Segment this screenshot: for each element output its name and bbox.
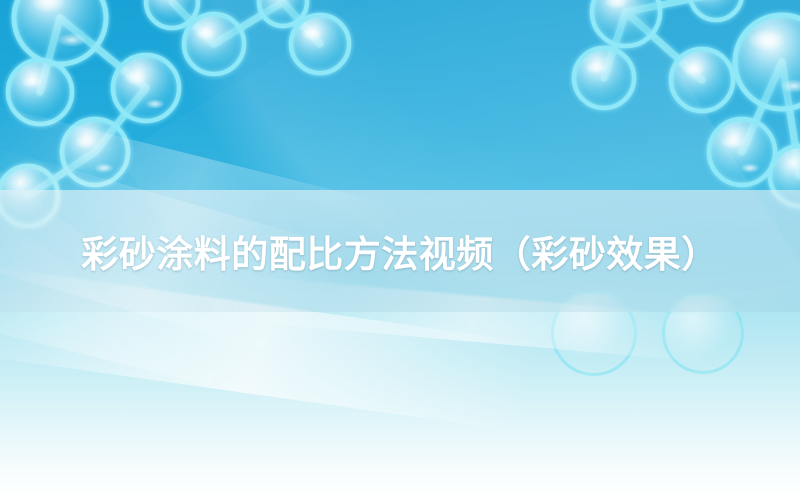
promo-banner: 彩砂涂料的配比方法视频（彩砂效果） (0, 0, 800, 500)
banner-title: 彩砂涂料的配比方法视频（彩砂效果） (0, 190, 800, 312)
